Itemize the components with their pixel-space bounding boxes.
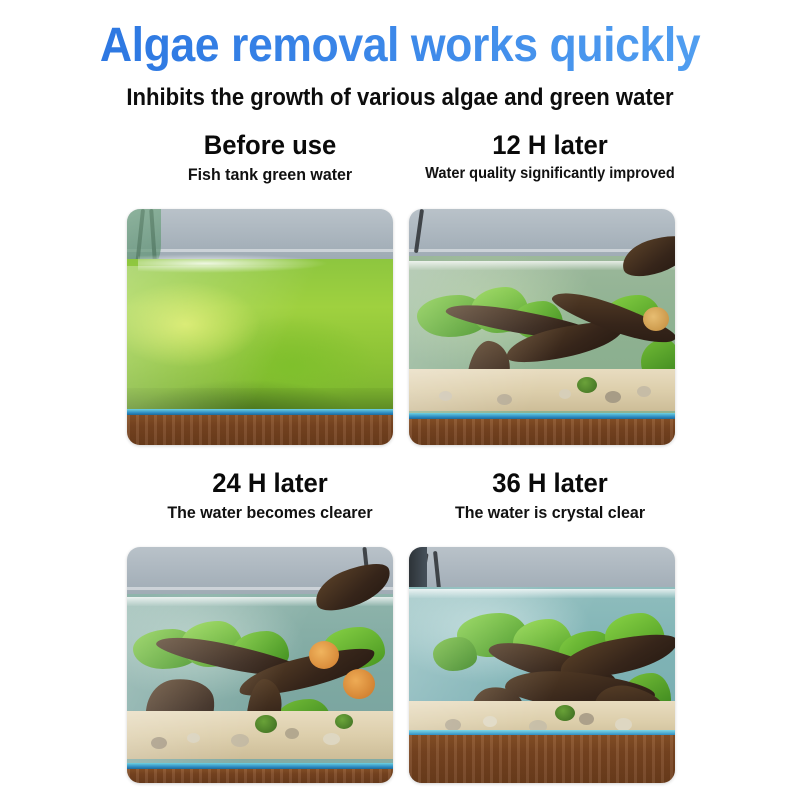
glass-reflection	[127, 597, 393, 776]
wood-grain	[127, 415, 393, 445]
wall-moulding-line	[127, 249, 393, 252]
page-subheadline: Inhibits the growth of various algae and…	[32, 84, 768, 112]
panel-caption: The water becomes clearer	[129, 503, 411, 523]
photo-before-use	[127, 209, 393, 445]
panel-title: 24 H later	[128, 468, 413, 498]
wood-grain	[127, 769, 393, 783]
panel-caption: The water is crystal clear	[409, 503, 691, 523]
photo-24h-later	[127, 547, 393, 783]
panel-title: 36 H later	[408, 468, 693, 498]
cabinet-wood	[409, 419, 675, 445]
panel-caption: Water quality significantly improved	[409, 165, 691, 183]
wood-grain	[409, 419, 675, 445]
panel-label-24h-later: 24 H later The water becomes clearer	[120, 468, 420, 523]
cabinet-wood	[409, 735, 675, 783]
page-headline: Algae removal works quickly	[28, 18, 772, 73]
cabinet-wood	[127, 415, 393, 445]
wood-grain	[409, 735, 675, 783]
cabinet-wood	[127, 769, 393, 783]
panel-label-36h-later: 36 H later The water is crystal clear	[400, 468, 700, 523]
photo-12h-later	[409, 209, 675, 445]
panel-label-12h-later: 12 H later Water quality significantly i…	[400, 130, 700, 183]
glass-reflection	[409, 261, 675, 436]
panel-label-before-use: Before use Fish tank green water	[120, 130, 420, 185]
panel-title: 12 H later	[408, 130, 693, 160]
photo-36h-later	[409, 547, 675, 783]
panel-caption: Fish tank green water	[129, 165, 411, 185]
panel-title: Before use	[128, 130, 413, 160]
